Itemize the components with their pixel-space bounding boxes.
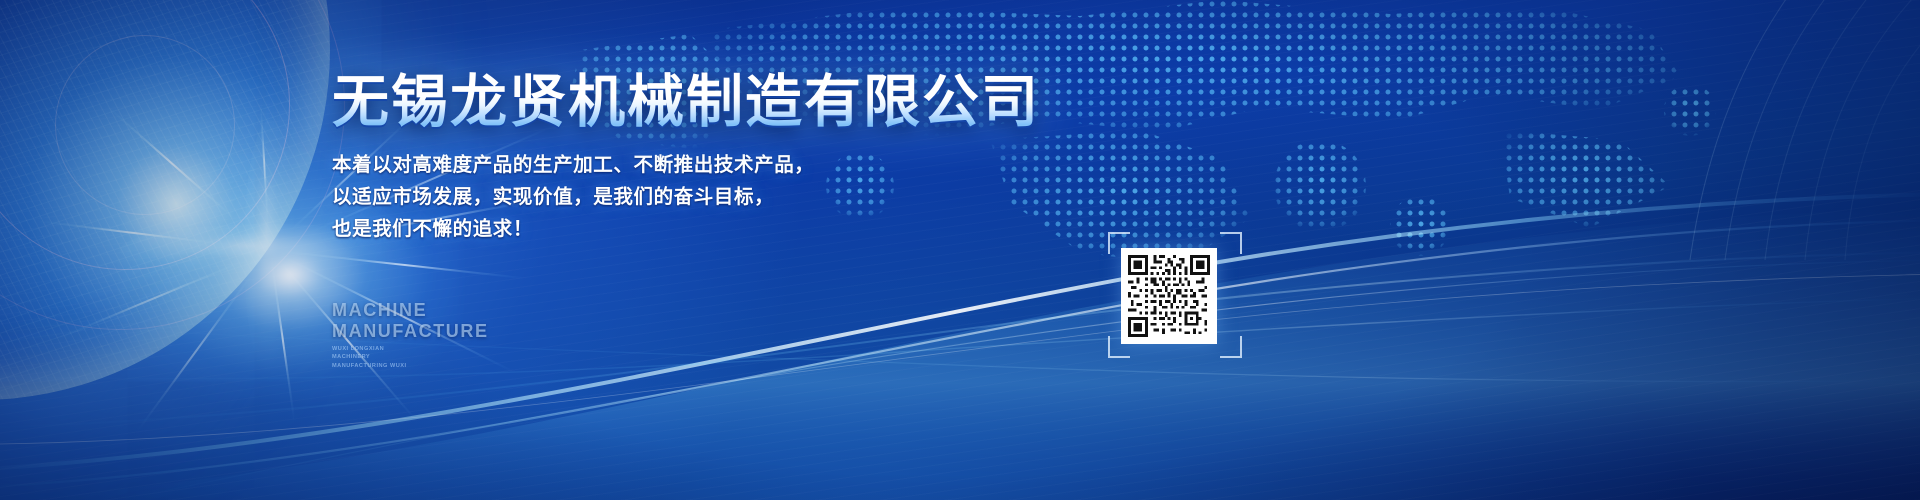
corner-bracket-top-right-icon <box>1220 232 1242 254</box>
subtitle-line-2: 以适应市场发展，实现价值，是我们的奋斗目标， <box>332 182 1052 214</box>
subtitle-line-3: 也是我们不懈的追求！ <box>332 214 1052 246</box>
corner-bracket-bottom-right-icon <box>1220 336 1242 358</box>
company-title: 无锡龙贤机械制造有限公司 <box>332 72 1052 132</box>
qr-code-icon <box>1128 255 1210 337</box>
watermark-block: MACHINE MANUFACTURE WUXI LONGXIAN MACHIN… <box>332 300 489 370</box>
watermark-caption: WUXI LONGXIAN MACHINERY MANUFACTURING WU… <box>332 345 424 369</box>
banner-subtitle: 本着以对高难度产品的生产加工、不断推出技术产品， 以适应市场发展，实现价值，是我… <box>332 150 1052 245</box>
qr-code-module[interactable] <box>1108 232 1242 358</box>
subtitle-line-1: 本着以对高难度产品的生产加工、不断推出技术产品， <box>332 150 1052 182</box>
banner-copy: 无锡龙贤机械制造有限公司 本着以对高难度产品的生产加工、不断推出技术产品， 以适… <box>332 72 1052 245</box>
watermark-line-manufacture: MANUFACTURE <box>332 321 489 342</box>
watermark-line-machine: MACHINE <box>332 300 489 321</box>
qr-code-panel[interactable] <box>1121 248 1217 344</box>
hero-banner: 无锡龙贤机械制造有限公司 本着以对高难度产品的生产加工、不断推出技术产品， 以适… <box>0 0 1920 500</box>
